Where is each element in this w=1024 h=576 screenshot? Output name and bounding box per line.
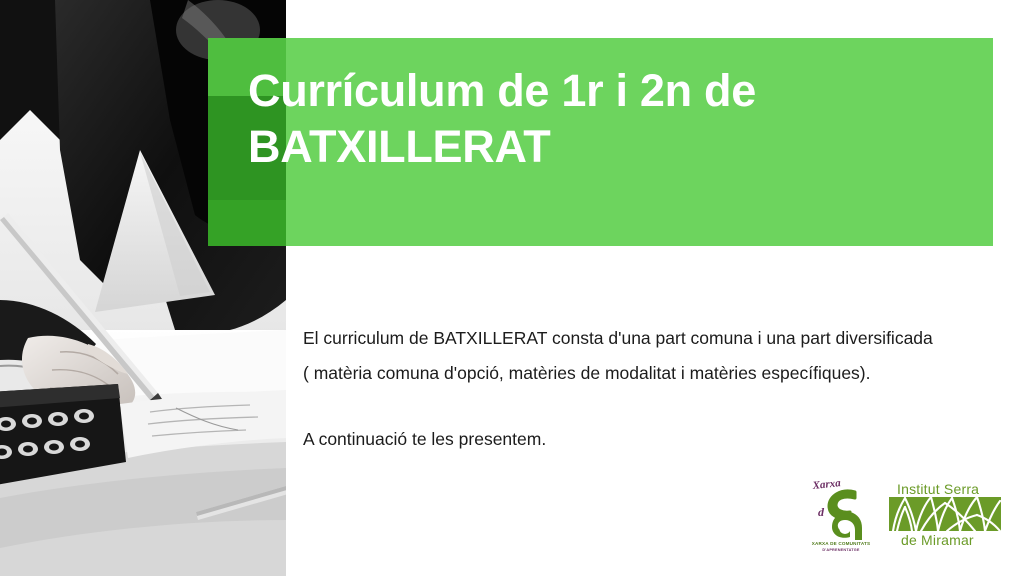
- title-banner-photo-overlap-bottom: [208, 200, 286, 246]
- institut-serra-de-miramar-logo: Institut Serra de Miramar: [887, 480, 1003, 548]
- institut-logo-line-1: Institut Serra: [897, 481, 979, 497]
- slide-canvas: Currículum de 1r i 2n de BATXILLERAT El …: [0, 0, 1024, 576]
- xarxa-caption-line-2: D'APRENENTATGE: [822, 548, 860, 552]
- institut-logo-line-2: de Miramar: [901, 532, 974, 548]
- page-title: Currículum de 1r i 2n de BATXILLERAT: [248, 63, 948, 175]
- body-text-block: El curriculum de BATXILLERAT consta d'un…: [303, 286, 943, 492]
- svg-text:d: d: [818, 505, 825, 519]
- svg-text:Xarxa: Xarxa: [811, 477, 842, 492]
- body-paragraph-1: El curriculum de BATXILLERAT consta d'un…: [303, 328, 933, 383]
- xarxa-ca-logo-artwork: Xarxa d XARXA DE COMUNITATS D'APRENENTAT…: [805, 476, 877, 552]
- body-paragraph-2: A continuació te les presentem.: [303, 422, 943, 457]
- institut-logo-artwork: Institut Serra de Miramar: [887, 480, 1003, 548]
- logo-group: Xarxa d XARXA DE COMUNITATS D'APRENENTAT…: [805, 474, 1005, 556]
- xarxa-ca-logo: Xarxa d XARXA DE COMUNITATS D'APRENENTAT…: [805, 476, 877, 552]
- xarxa-caption-line-1: XARXA DE COMUNITATS: [812, 541, 871, 546]
